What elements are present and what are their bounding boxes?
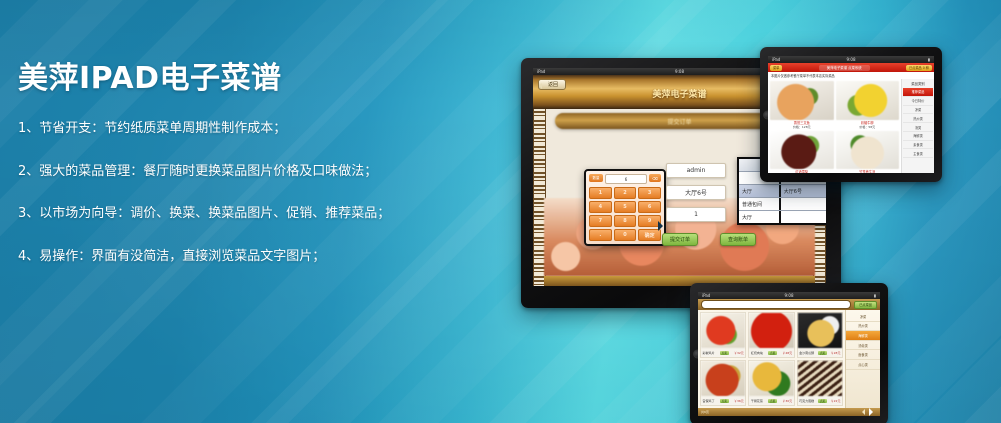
dish-card[interactable]: 金沙南瓜酥 点菜 ￥28元	[797, 312, 843, 358]
status-time: 9:08	[675, 69, 684, 74]
list-item: 1、节省开支：节约纸质菜单周期性制作成本；	[18, 121, 438, 137]
submit-order-button[interactable]: 提交订单	[662, 233, 698, 246]
dish-name: 金沙南瓜酥	[799, 351, 814, 355]
keypad-key[interactable]: 0	[614, 229, 637, 241]
table-name: 大厅6号	[781, 185, 826, 197]
table-row[interactable]: 普通包间	[739, 198, 826, 211]
query-bill-button[interactable]: 查询账单	[720, 233, 756, 246]
prev-page-icon[interactable]	[859, 409, 865, 415]
pagination-controls	[859, 408, 877, 416]
sidebar-item-special[interactable]: 今日特价	[903, 97, 933, 106]
list-item: 4、易操作：界面有没简洁，直接浏览菜品文字图片；	[18, 249, 438, 265]
keypad-display: 6	[605, 174, 647, 184]
numeric-keypad[interactable]: 数量 6 ⌫ 1 2 3 4 5 6 7 8	[584, 169, 666, 246]
status-time: 9:08	[785, 293, 794, 298]
dish-card[interactable]: 香煎三文鱼 价格：128元	[770, 81, 834, 129]
dish-name: 彩椒鸡片	[703, 351, 715, 355]
dish-caption: 干锅花菜 点菜 ￥30元	[749, 396, 793, 405]
dish-image	[701, 361, 745, 396]
dish-grid: 香煎三文鱼 价格：128元 彩椒牛柳 价格：58元 红酒雪梨 价格：38元	[768, 79, 901, 173]
dish-name: 干锅花菜	[751, 399, 763, 403]
search-input[interactable]	[701, 300, 851, 309]
pointer-arrow-icon	[658, 221, 668, 231]
dish-caption: 红烧肉块 点菜 ￥48元	[749, 348, 793, 357]
dish-image	[836, 81, 900, 120]
dish-card[interactable]: 红酒雪梨 价格：38元	[770, 131, 834, 174]
dish-price: 价格：58元	[836, 125, 900, 129]
sidebar-item-seafood[interactable]: 海鲜类	[903, 132, 933, 141]
table-area: 大厅	[739, 185, 781, 197]
order-button[interactable]: 点菜	[818, 351, 827, 355]
menu-button[interactable]: 菜单	[770, 65, 782, 71]
dish-price: ￥30元	[782, 399, 792, 403]
keypad-key[interactable]: 5	[614, 201, 637, 213]
category-header: 菜品类别	[903, 81, 933, 86]
table-area: 大厅	[739, 211, 781, 223]
menu-body: 香煎三文鱼 价格：128元 彩椒牛柳 价格：58元 红酒雪梨 价格：38元	[768, 79, 934, 173]
keypad-key[interactable]: .	[589, 229, 612, 241]
app-title: 美萍电子菜谱 点菜系统	[819, 65, 870, 71]
keypad-key[interactable]: 3	[638, 187, 661, 199]
keypad-key[interactable]: 6	[638, 201, 661, 213]
dish-name: 红酒雪梨	[770, 169, 834, 173]
dish-caption: 彩椒鸡片 点菜 ￥32元	[701, 348, 745, 357]
keypad-key[interactable]: 2	[614, 187, 637, 199]
status-time: 9:08	[847, 57, 856, 62]
sidebar-item-vegetarian[interactable]: 素食类	[903, 141, 933, 150]
device-top-right-ipad: iPad 9:08 ▮ 菜单 美萍电子菜谱 点菜系统 已点菜品 0 种 本图片仅…	[760, 47, 942, 182]
dish-image	[798, 313, 842, 348]
dish-card[interactable]: 彩椒鸡片 点菜 ￥32元	[700, 312, 746, 358]
dish-image	[798, 361, 842, 396]
dish-price: ￥36元	[734, 399, 744, 403]
keypad-display-row: 数量 6 ⌫	[589, 174, 661, 184]
table-name	[781, 211, 826, 223]
dish-caption: 巧克力蛋糕 点菜 ￥22元	[798, 396, 842, 405]
back-button[interactable]: 返回	[538, 79, 566, 90]
cart-button[interactable]: 已点菜品	[854, 301, 877, 309]
table-area: 普通包间	[739, 198, 781, 210]
dish-card[interactable]: 竹笙养生汤 价格：68元	[836, 131, 900, 174]
page-count: 共6页	[701, 410, 709, 414]
status-bar: iPad 9:08 ▮	[768, 56, 934, 63]
table-name	[781, 198, 826, 210]
sidebar-item-cold[interactable]: 凉菜	[903, 106, 933, 115]
dish-price: ￥48元	[782, 351, 792, 355]
disclaimer-note: 本图片仅做参考餐厅菜单不代表本店实际菜品	[768, 72, 934, 79]
pagination-footer: 共6页	[698, 408, 880, 416]
keypad-key[interactable]: 1	[589, 187, 612, 199]
dish-card[interactable]: 巧克力蛋糕 点菜 ￥22元	[797, 360, 843, 406]
bottom-right-ipad-screen: iPad 9:08 ▮ 已点菜品 彩椒鸡片 点菜 ￥32元	[698, 292, 880, 416]
backspace-icon[interactable]: ⌫	[649, 174, 661, 182]
list-item: 2、强大的菜品管理：餐厅随时更换菜品图片价格及口味做法；	[18, 164, 438, 180]
dish-name: 巧克力蛋糕	[799, 399, 814, 403]
dish-name: 竹笙养生汤	[836, 169, 900, 173]
app-header-red: 菜单 美萍电子菜谱 点菜系统 已点菜品 0 种	[768, 63, 934, 72]
dish-grid: 彩椒鸡片 点菜 ￥32元 红烧肉块 点菜 ￥48元	[698, 310, 845, 408]
status-carrier: iPad	[537, 69, 545, 74]
sidebar-item-recommended[interactable]: 推荐菜品	[903, 88, 933, 97]
dish-image	[749, 313, 793, 348]
dish-name: 宫保鸡丁	[703, 399, 715, 403]
order-button[interactable]: 点菜	[818, 399, 827, 403]
dish-image	[836, 131, 900, 170]
category-sidebar: 凉菜 热炒类 海鲜类 汤羹类 面食类 点心类	[845, 310, 880, 408]
dish-caption: 宫保鸡丁 点菜 ￥36元	[701, 396, 745, 405]
sidebar-item-noodles[interactable]: 面食类	[846, 350, 880, 360]
dish-card[interactable]: 干锅花菜 点菜 ￥30元	[748, 360, 794, 406]
search-toolbar: 已点菜品	[698, 299, 880, 310]
page-title: 美萍IPAD电子菜谱	[18, 62, 438, 95]
menu-body: 彩椒鸡片 点菜 ￥32元 红烧肉块 点菜 ￥48元	[698, 310, 880, 408]
order-button[interactable]: 点菜	[720, 351, 729, 355]
order-button[interactable]: 点菜	[720, 399, 729, 403]
dish-price: ￥22元	[831, 399, 841, 403]
promo-banner: 美萍IPAD电子菜谱 1、节省开支：节约纸质菜单周期性制作成本； 2、强大的菜品…	[0, 0, 1001, 423]
keypad-key[interactable]: 8	[614, 215, 637, 227]
table-row[interactable]: 大厅	[739, 211, 826, 223]
dish-name: 红烧肉块	[751, 351, 763, 355]
list-item: 3、以市场为向导：调价、换菜、换菜品图片、促销、推荐菜品；	[18, 206, 438, 222]
device-bottom-right-ipad: iPad 9:08 ▮ 已点菜品 彩椒鸡片 点菜 ￥32元	[690, 283, 888, 423]
action-buttons: 提交订单 查询账单	[662, 233, 756, 246]
sidebar-item-cold[interactable]: 凉菜	[846, 312, 880, 322]
sidebar-item-stirfry[interactable]: 热炒类	[846, 322, 880, 332]
dish-card[interactable]: 红烧肉块 点菜 ￥48元	[748, 312, 794, 358]
username-field[interactable]: admin	[666, 163, 726, 178]
dish-card[interactable]: 宫保鸡丁 点菜 ￥36元	[700, 360, 746, 406]
dish-image	[770, 131, 834, 170]
status-battery-icon: ▮	[874, 293, 876, 298]
feature-list: 1、节省开支：节约纸质菜单周期性制作成本； 2、强大的菜品管理：餐厅随时更换菜品…	[18, 121, 438, 264]
dish-price: ￥28元	[831, 351, 841, 355]
dish-card[interactable]: 彩椒牛柳 价格：58元	[836, 81, 900, 129]
keypad-label: 数量	[589, 174, 603, 182]
dish-price: 价格：128元	[770, 125, 834, 129]
status-carrier: iPad	[702, 293, 710, 298]
sidebar-item-soup[interactable]: 汤类	[903, 123, 933, 132]
keypad-key[interactable]: 4	[589, 201, 612, 213]
next-page-icon[interactable]	[869, 408, 877, 416]
table-row-selected[interactable]: 大厅 大厅6号	[739, 185, 826, 198]
dish-caption: 金沙南瓜酥 点菜 ￥28元	[798, 348, 842, 357]
cart-button[interactable]: 已点菜品 0 种	[906, 65, 932, 71]
keypad-grid: 1 2 3 4 5 6 7 8 9 . 0 确定	[589, 187, 661, 241]
dish-image	[770, 81, 834, 120]
marketing-copy: 美萍IPAD电子菜谱 1、节省开支：节约纸质菜单周期性制作成本； 2、强大的菜品…	[18, 62, 438, 291]
sidebar-item-seafood[interactable]: 海鲜类	[846, 331, 880, 341]
dish-price: ￥32元	[734, 351, 744, 355]
sidebar-item-dessert[interactable]: 点心类	[846, 360, 880, 370]
quantity-field[interactable]: 1	[666, 207, 726, 222]
order-button[interactable]: 点菜	[768, 351, 777, 355]
top-right-ipad-screen: iPad 9:08 ▮ 菜单 美萍电子菜谱 点菜系统 已点菜品 0 种 本图片仅…	[768, 56, 934, 173]
sidebar-item-soup[interactable]: 汤羹类	[846, 341, 880, 351]
sidebar-item-stirfry[interactable]: 热炒类	[903, 114, 933, 123]
category-sidebar: 菜品类别 推荐菜品 今日特价 凉菜 热炒类 汤类 海鲜类 素食类 主食类	[901, 79, 934, 173]
sidebar-item-staple[interactable]: 主食类	[903, 149, 933, 158]
status-bar: iPad 9:08 ▮	[698, 292, 880, 299]
keypad-key[interactable]: 7	[589, 215, 612, 227]
status-battery-icon: ▮	[928, 57, 930, 62]
dish-image	[749, 361, 793, 396]
form-fields: admin 大厅6号 1	[666, 163, 726, 229]
table-field[interactable]: 大厅6号	[666, 185, 726, 200]
status-carrier: iPad	[772, 57, 780, 62]
dish-image	[701, 313, 745, 348]
order-button[interactable]: 点菜	[768, 399, 777, 403]
